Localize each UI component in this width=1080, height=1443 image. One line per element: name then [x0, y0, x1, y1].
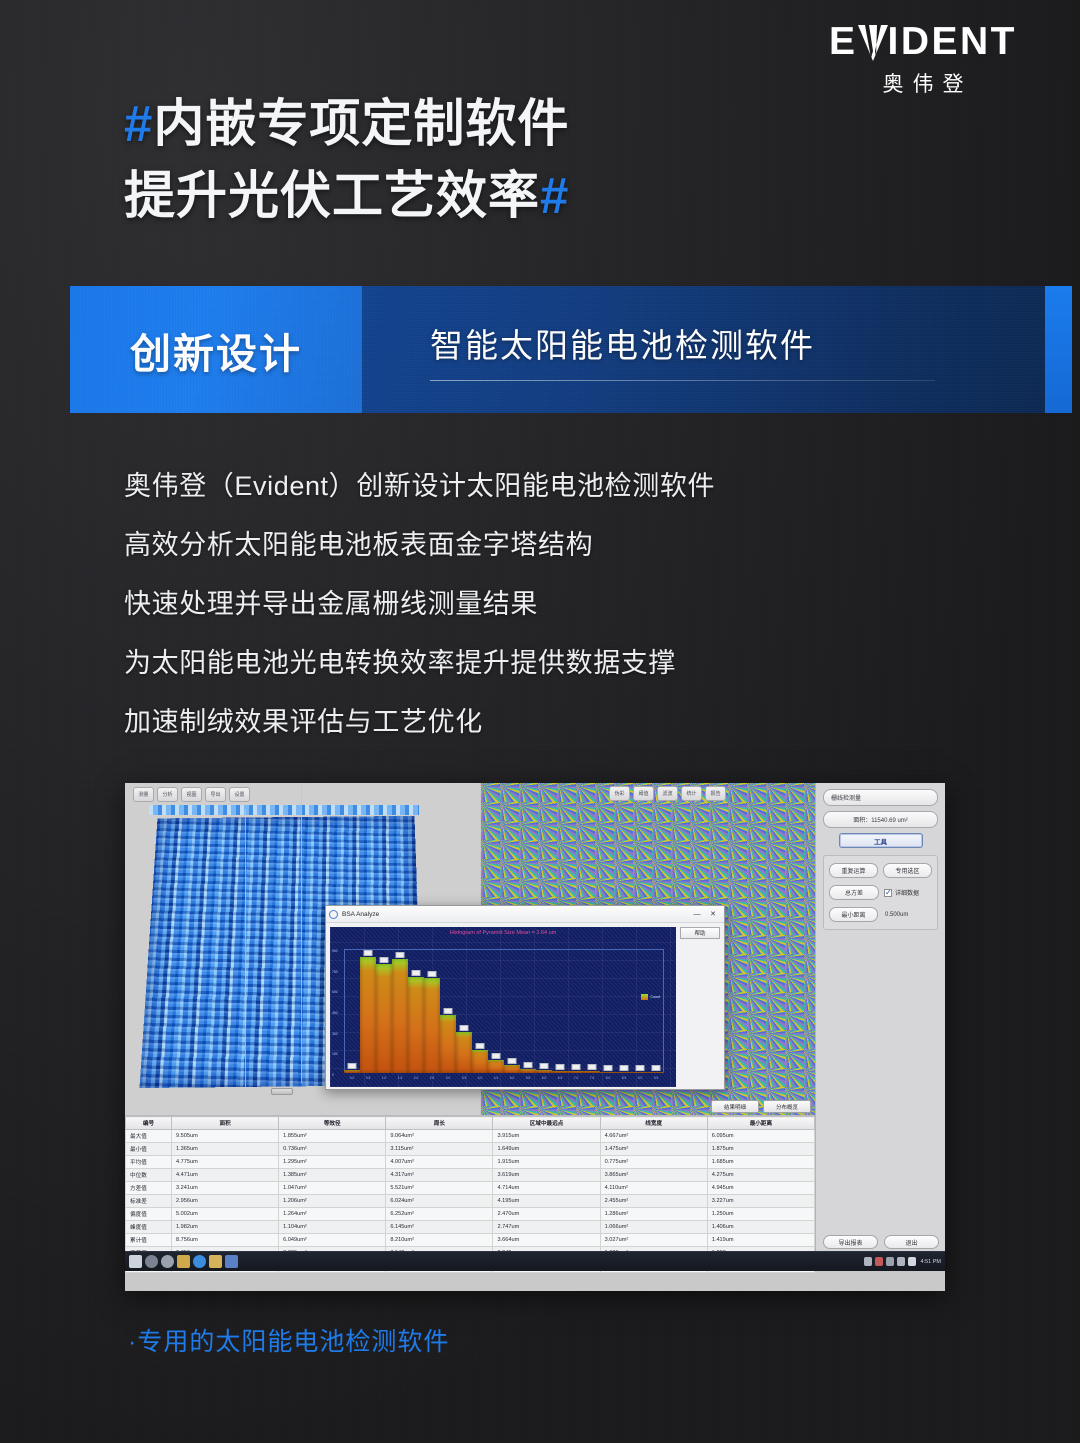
table-cell: 5.002um — [172, 1208, 279, 1221]
table-cell: 1.406um — [707, 1221, 814, 1234]
histogram-bar — [440, 1015, 455, 1073]
histogram-bar — [520, 1069, 535, 1073]
histogram-bar-label — [572, 1064, 581, 1070]
table-cell: 4.775um — [172, 1156, 279, 1169]
histogram-bar — [600, 1072, 615, 1073]
histogram-bar-fill — [488, 1060, 503, 1073]
x-axis-tick-label: 0.0 — [344, 1076, 360, 1084]
brand-logo: E IDENT 奥伟登 — [808, 22, 1038, 98]
x-axis-tick-label: 6.5 — [552, 1076, 568, 1084]
table-cell: 1.419um — [707, 1234, 814, 1247]
table-cell: 4.007um² — [386, 1156, 493, 1169]
panel-title: 栅线检测量 — [823, 789, 938, 806]
start-button-icon[interactable] — [129, 1255, 142, 1268]
table-cell: 1.685um — [707, 1156, 814, 1169]
histogram-bar-label — [508, 1058, 517, 1064]
histogram-bar-fill — [424, 978, 439, 1073]
poster-root: E IDENT 奥伟登 #内嵌专项定制软件 提升光伏工艺效率# 创新设计 — [0, 0, 1080, 1443]
chart-legend: Count — [641, 994, 660, 1000]
taskbar-clock[interactable]: 4:51 PM — [921, 1259, 941, 1265]
x-axis-tick-label: 1.5 — [392, 1076, 408, 1084]
y-axis-tick-label: 600 — [332, 990, 338, 994]
histogram-bar-label — [604, 1065, 613, 1071]
list-item: 高效分析太阳能电池板表面金字塔结构 — [124, 523, 715, 562]
histogram-bar — [408, 977, 423, 1073]
x-axis-tick-label: 8.0 — [600, 1076, 616, 1084]
histogram-bar — [376, 964, 391, 1073]
table-header-row: 编号面积等效径周长区域中最远点线宽度最小距离 — [126, 1117, 815, 1130]
table-row[interactable]: 标准差2.956um1.206um²6.024um²4.195um2.455um… — [126, 1195, 815, 1208]
toolbar-button-measure[interactable]: 测量 — [133, 787, 154, 802]
results-table[interactable]: 编号面积等效径周长区域中最远点线宽度最小距离 最大值9.505um1.855um… — [125, 1116, 815, 1273]
x-axis-tick-label: 5.5 — [520, 1076, 536, 1084]
table-cell: 8.210um² — [386, 1234, 493, 1247]
table-cell: 4.714um — [493, 1182, 600, 1195]
headline-text-2: 提升光伏工艺效率 — [124, 167, 540, 224]
table-cell: 6.095um — [707, 1130, 814, 1143]
histogram-bar-label — [588, 1064, 597, 1070]
special-region-button[interactable]: 专用选区 — [883, 863, 932, 878]
table-cell: 1.982um — [172, 1221, 279, 1234]
tray-battery-icon[interactable] — [908, 1257, 916, 1266]
table-cell: 4.471um — [172, 1169, 279, 1182]
table-cell: 3.865um² — [600, 1169, 707, 1182]
table-cell: 1.365um — [172, 1143, 279, 1156]
toolbar-button-export[interactable]: 导出 — [205, 787, 226, 802]
table-cell: 最大值 — [126, 1130, 172, 1143]
histogram-bar-label — [476, 1043, 485, 1049]
x-axis-tick-label: 9.5 — [648, 1076, 664, 1084]
table-cell: 1.855um² — [279, 1130, 386, 1143]
total-variance-button[interactable]: 总方差 — [829, 885, 879, 900]
histogram-bar-fill — [344, 1070, 359, 1073]
histogram-bar-label — [364, 950, 373, 956]
search-icon[interactable] — [145, 1255, 158, 1268]
histogram-dialog[interactable]: BSA Analyze — ✕ Histogram of Pyramid Siz… — [325, 905, 725, 1090]
panel-footer-actions: 导出报表 退出 — [823, 1235, 939, 1249]
table-cell: 0.736um² — [279, 1143, 386, 1156]
table-column-header[interactable]: 编号 — [126, 1117, 172, 1130]
panel-row-3: 最小距离 0.500um — [829, 907, 932, 922]
panel-row-2: 总方差 详细数据 — [829, 885, 932, 900]
logo-letter-e: E — [829, 22, 858, 61]
tab-distribution[interactable]: 分布概览 — [763, 1100, 811, 1113]
table-cell: 方差值 — [126, 1182, 172, 1195]
histogram-bar-fill — [376, 964, 391, 1073]
table-row[interactable]: 偏度值5.002um1.264um²6.252um²2.470um1.286um… — [126, 1208, 815, 1221]
table-row[interactable]: 平均值4.775um1.295um²4.007um²1.915um0.775um… — [126, 1156, 815, 1169]
table-cell: 1.206um² — [279, 1195, 386, 1208]
table-cell: 中位数 — [126, 1169, 172, 1182]
tools-button[interactable]: 工具 — [839, 833, 923, 848]
table-cell: 1.066um² — [600, 1221, 707, 1234]
headline-text-1: 内嵌专项定制软件 — [153, 95, 569, 152]
x-axis-tick-label: 7.5 — [584, 1076, 600, 1084]
y-axis-tick-label: 900 — [332, 949, 338, 953]
table-tab-bar: 结果明细 分布概览 — [711, 1100, 811, 1113]
app-window: 测量 分析 视图 导出 设置 伪彩 阈值 滤波 统计 — [125, 783, 945, 1271]
table-cell: 峰度值 — [126, 1221, 172, 1234]
headline-line-1: #内嵌专项定制软件 — [124, 88, 569, 160]
histogram-bar — [552, 1071, 567, 1073]
table-column-header[interactable]: 最小距离 — [707, 1117, 814, 1130]
table-cell: 6.252um² — [386, 1208, 493, 1221]
checkbox-box-icon[interactable] — [884, 889, 892, 897]
table-row[interactable]: 最小值1.365um0.736um²3.115um²1.649um1.475um… — [126, 1143, 815, 1156]
explorer-icon[interactable] — [177, 1255, 190, 1268]
table-cell: 3.664um — [493, 1234, 600, 1247]
table-cell: 6.024um² — [386, 1195, 493, 1208]
table-cell: 标准差 — [126, 1195, 172, 1208]
table-row[interactable]: 累计值8.756um6.049um²8.210um²3.664um3.027um… — [126, 1234, 815, 1247]
x-axis-tick-label: 2.5 — [424, 1076, 440, 1084]
histogram-bar-label — [412, 970, 421, 976]
list-item: 为太阳能电池光电转换效率提升提供数据支撑 — [124, 641, 715, 680]
x-axis-tick-label: 9.0 — [632, 1076, 648, 1084]
x-axis-tick-label: 5.0 — [504, 1076, 520, 1084]
table-cell: 1.475um² — [600, 1143, 707, 1156]
histogram-bar-fill — [520, 1069, 535, 1073]
x-axis-ticks: 0.00.51.01.52.02.53.03.54.04.55.05.56.06… — [344, 1076, 664, 1084]
y-axis-tick-label: 300 — [332, 1032, 338, 1036]
histogram-bar-fill — [552, 1071, 567, 1073]
logo-chinese-name: 奥伟登 — [808, 68, 1038, 98]
histogram-bar-fill — [584, 1071, 599, 1073]
folder-icon[interactable] — [209, 1255, 222, 1268]
histogram-bar-fill — [632, 1072, 647, 1073]
table-cell: 1.250um — [707, 1208, 814, 1221]
legend-swatch-icon — [641, 994, 648, 1000]
banner-subtitle: 智能太阳能电池检测软件 — [430, 319, 1072, 367]
histogram-bar-fill — [408, 977, 423, 1073]
toolbar-button-settings[interactable]: 设置 — [229, 787, 250, 802]
histogram-bar-label — [460, 1025, 469, 1031]
legend-label: Count — [650, 995, 660, 999]
histogram-bar-fill — [392, 959, 407, 1073]
histogram-bar-fill — [472, 1050, 487, 1073]
table-cell: 1.286um² — [600, 1208, 707, 1221]
chart-title: Histogram of Pyramid Size Mean = 2.64 um — [330, 929, 676, 937]
logo-v-chevron-icon — [858, 23, 888, 61]
table-cell: 平均值 — [126, 1156, 172, 1169]
table-cell: 8.756um — [172, 1234, 279, 1247]
histogram-bar — [648, 1072, 663, 1073]
toolbar-button-analyze[interactable]: 分析 — [157, 787, 178, 802]
histogram-bar — [504, 1065, 519, 1073]
histogram-bar-fill — [456, 1032, 471, 1073]
dialog-content: Histogram of Pyramid Size Mean = 2.64 um… — [326, 923, 724, 1091]
toolbar-button-statistics[interactable]: 统计 — [681, 786, 702, 801]
dialog-title-bar[interactable]: BSA Analyze — ✕ — [326, 906, 724, 923]
histogram-bar-fill — [440, 1015, 455, 1073]
system-tray — [864, 1257, 916, 1266]
table-row[interactable]: 最大值9.505um1.855um²9.064um²3.915um4.667um… — [126, 1130, 815, 1143]
table-row[interactable]: 中位数4.471um1.385um²4.317um²3.619um3.865um… — [126, 1169, 815, 1182]
table-cell: 1.385um² — [279, 1169, 386, 1182]
table-cell: 1.915um — [493, 1156, 600, 1169]
list-item: 奥伟登（Evident）创新设计太阳能电池检测软件 — [124, 464, 715, 503]
y-axis-tick-label: 0 — [332, 1073, 334, 1077]
min-distance-button[interactable]: 最小距离 — [829, 907, 878, 922]
table-row[interactable]: 峰度值1.982um1.104um²6.145um²2.747um1.066um… — [126, 1221, 815, 1234]
table-cell: 2.470um — [493, 1208, 600, 1221]
app-circle-icon — [329, 910, 338, 919]
histogram-bar — [616, 1072, 631, 1073]
y-axis-ticks: 9007506004503001500 — [332, 949, 343, 1073]
y-axis-tick-label: 750 — [332, 970, 338, 974]
table-cell: 2.455um² — [600, 1195, 707, 1208]
table-cell: 3.115um² — [386, 1143, 493, 1156]
table-row[interactable]: 方差值3.241um1.047um²5.521um²4.714um4.110um… — [126, 1182, 815, 1195]
tray-shield-icon[interactable] — [875, 1257, 883, 1266]
histogram-bar-fill — [568, 1071, 583, 1073]
table-cell: 5.521um² — [386, 1182, 493, 1195]
y-axis-tick-label: 150 — [332, 1052, 338, 1056]
settings-gear-icon[interactable] — [161, 1255, 174, 1268]
close-icon[interactable]: ✕ — [705, 910, 721, 918]
panel-row-1: 重复运算 专用选区 — [829, 863, 932, 878]
histogram-bar-fill — [360, 957, 375, 1073]
table-cell: 1.649um — [493, 1143, 600, 1156]
logo-wordmark: E IDENT — [808, 22, 1038, 61]
table-cell: 偏度值 — [126, 1208, 172, 1221]
list-item: 快速处理并导出金属栅线测量结果 — [124, 582, 715, 621]
x-axis-tick-label: 4.5 — [488, 1076, 504, 1084]
toolbar-button-threshold[interactable]: 阈值 — [633, 786, 654, 801]
browser-icon[interactable] — [193, 1255, 206, 1268]
detail-data-checkbox[interactable]: 详细数据 — [884, 888, 932, 897]
histogram-bar — [472, 1050, 487, 1073]
list-item: 加速制绒效果评估与工艺优化 — [124, 700, 715, 739]
x-axis-tick-label: 2.0 — [408, 1076, 424, 1084]
histogram-bar-label — [556, 1064, 565, 1070]
table-cell: 3.619um — [493, 1169, 600, 1182]
logo-letters-rest: IDENT — [888, 22, 1018, 61]
detail-data-label: 详细数据 — [895, 888, 919, 897]
axis-marker-left — [245, 809, 246, 1087]
tray-chevron-up-icon[interactable] — [864, 1257, 872, 1266]
table-cell: 4.945um — [707, 1182, 814, 1195]
histogram-bar — [392, 959, 407, 1073]
surface-scale-legend — [271, 1088, 293, 1095]
x-axis-tick-label: 8.5 — [616, 1076, 632, 1084]
hash-suffix-icon: # — [540, 167, 569, 224]
table-cell: 3.227um — [707, 1195, 814, 1208]
table-column-header[interactable]: 等效径 — [279, 1117, 386, 1130]
table-cell: 4.275um — [707, 1169, 814, 1182]
chart-plot-area — [344, 949, 664, 1073]
histogram-bar-fill — [648, 1072, 663, 1073]
table-cell: 6.049um² — [279, 1234, 386, 1247]
histogram-bar-label — [444, 1008, 453, 1014]
x-axis-tick-label: 1.0 — [376, 1076, 392, 1084]
table-cell: 最小值 — [126, 1143, 172, 1156]
texture-viewer-toolbar: 伪彩 阈值 滤波 统计 报告 — [609, 786, 726, 801]
toolbar-button-filter[interactable]: 滤波 — [657, 786, 678, 801]
software-screenshot: 测量 分析 视图 导出 设置 伪彩 阈值 滤波 统计 — [125, 783, 945, 1291]
table-cell: 1.047um² — [279, 1182, 386, 1195]
histogram-bars — [344, 949, 664, 1073]
histogram-bar — [488, 1060, 503, 1073]
histogram-bar-label — [396, 952, 405, 958]
feature-list: 奥伟登（Evident）创新设计太阳能电池检测软件 高效分析太阳能电池板表面金字… — [124, 464, 715, 739]
table-column-header[interactable]: 区域中最远点 — [493, 1117, 600, 1130]
headline-line-2: 提升光伏工艺效率# — [124, 160, 569, 232]
area-value-field: 面积：11540.69 um² — [823, 811, 938, 828]
x-axis-tick-label: 4.0 — [472, 1076, 488, 1084]
x-axis-tick-label: 7.0 — [568, 1076, 584, 1084]
table-cell: 4.110um² — [600, 1182, 707, 1195]
table-cell: 9.505um — [172, 1130, 279, 1143]
histogram-bar-label — [428, 971, 437, 977]
axis-marker-right — [301, 783, 302, 1083]
banner-tag-label: 创新设计 — [130, 320, 302, 380]
histogram-bar — [632, 1072, 647, 1073]
table-cell: 累计值 — [126, 1234, 172, 1247]
histogram-bar-label — [540, 1063, 549, 1069]
table-cell: 9.064um² — [386, 1130, 493, 1143]
tray-volume-icon[interactable] — [897, 1257, 905, 1266]
dialog-side-panel: 帮助 — [676, 927, 720, 1087]
histogram-bar — [456, 1032, 471, 1073]
min-distance-value: 0.500um — [883, 912, 932, 918]
panel-button-group: 重复运算 专用选区 总方差 详细数据 最小距离 0.500um — [823, 855, 938, 930]
table-cell: 1.104um² — [279, 1221, 386, 1234]
exit-button[interactable]: 退出 — [884, 1235, 939, 1249]
export-report-button[interactable]: 导出报表 — [823, 1235, 878, 1249]
histogram-bar-fill — [600, 1072, 615, 1073]
windows-taskbar[interactable]: 4:51 PM — [125, 1251, 945, 1271]
table-column-header[interactable]: 面积 — [172, 1117, 279, 1130]
toolbar-button-pseudocolor[interactable]: 伪彩 — [609, 786, 630, 801]
tab-result-detail[interactable]: 结果明细 — [711, 1100, 759, 1113]
minimize-icon[interactable]: — — [689, 911, 705, 918]
banner-tag-block: 创新设计 — [70, 286, 362, 413]
results-table-panel: 结果明细 分布概览 编号面积等效径周长区域中最远点线宽度最小距离 最大值9.50… — [125, 1115, 815, 1271]
x-axis-tick-label: 0.5 — [360, 1076, 376, 1084]
table-cell: 1.875um — [707, 1143, 814, 1156]
table-column-header[interactable]: 线宽度 — [600, 1117, 707, 1130]
table-cell: 6.145um² — [386, 1221, 493, 1234]
table-cell: 4.317um² — [386, 1169, 493, 1182]
table-cell: 1.295um² — [279, 1156, 386, 1169]
histogram-bar-label — [380, 957, 389, 963]
table-cell: 0.775um² — [600, 1156, 707, 1169]
histogram-bar — [424, 978, 439, 1073]
table-cell: 3.027um² — [600, 1234, 707, 1247]
histogram-bar-fill — [616, 1072, 631, 1073]
toolbar-button-report[interactable]: 报告 — [705, 786, 726, 801]
histogram-bar-label — [636, 1065, 645, 1071]
histogram-bar-label — [492, 1053, 501, 1059]
table-cell: 4.195um — [493, 1195, 600, 1208]
page-title: #内嵌专项定制软件 提升光伏工艺效率# — [124, 88, 569, 233]
histogram-bar-label — [652, 1065, 661, 1071]
banner-subtitle-block: 智能太阳能电池检测软件 — [362, 286, 1072, 413]
histogram-bar — [584, 1071, 599, 1073]
histogram-bar-fill — [536, 1070, 551, 1073]
banner-divider — [430, 380, 935, 381]
section-banner: 创新设计 智能太阳能电池检测软件 — [70, 286, 1072, 413]
x-axis-tick-label: 3.5 — [456, 1076, 472, 1084]
table-cell: 3.915um — [493, 1130, 600, 1143]
table-cell: 2.956um — [172, 1195, 279, 1208]
histogram-bar-label — [348, 1063, 357, 1069]
repeat-calc-button[interactable]: 重复运算 — [829, 863, 878, 878]
table-cell: 3.241um — [172, 1182, 279, 1195]
table-cell: 1.264um² — [279, 1208, 386, 1221]
table-cell: 4.667um² — [600, 1130, 707, 1143]
dialog-title: BSA Analyze — [342, 911, 689, 918]
surface-top-edge — [149, 805, 419, 815]
table-column-header[interactable]: 周长 — [386, 1117, 493, 1130]
hash-prefix-icon: # — [124, 95, 153, 152]
figure-caption: ·专用的太阳能电池检测软件 — [128, 1322, 449, 1358]
x-axis-tick-label: 6.0 — [536, 1076, 552, 1084]
tray-network-icon[interactable] — [886, 1257, 894, 1266]
y-axis-tick-label: 450 — [332, 1011, 338, 1015]
x-axis-tick-label: 3.0 — [440, 1076, 456, 1084]
histogram-chart[interactable]: Histogram of Pyramid Size Mean = 2.64 um… — [330, 927, 676, 1087]
histogram-bar — [360, 957, 375, 1073]
toolbar-button-view[interactable]: 视图 — [181, 787, 202, 802]
histogram-bar-label — [524, 1062, 533, 1068]
dialog-help-button[interactable]: 帮助 — [680, 927, 720, 939]
app-icon-active[interactable] — [225, 1255, 238, 1268]
histogram-bar — [568, 1071, 583, 1073]
histogram-bar-label — [620, 1065, 629, 1071]
surface-viewer-toolbar: 测量 分析 视图 导出 设置 — [133, 787, 250, 802]
histogram-bar — [344, 1070, 359, 1073]
control-panel: 栅线检测量 面积：11540.69 um² 工具 重复运算 专用选区 总方差 详… — [815, 783, 945, 1271]
histogram-bar — [536, 1070, 551, 1073]
histogram-bar-fill — [504, 1065, 519, 1073]
table-cell: 2.747um — [493, 1221, 600, 1234]
